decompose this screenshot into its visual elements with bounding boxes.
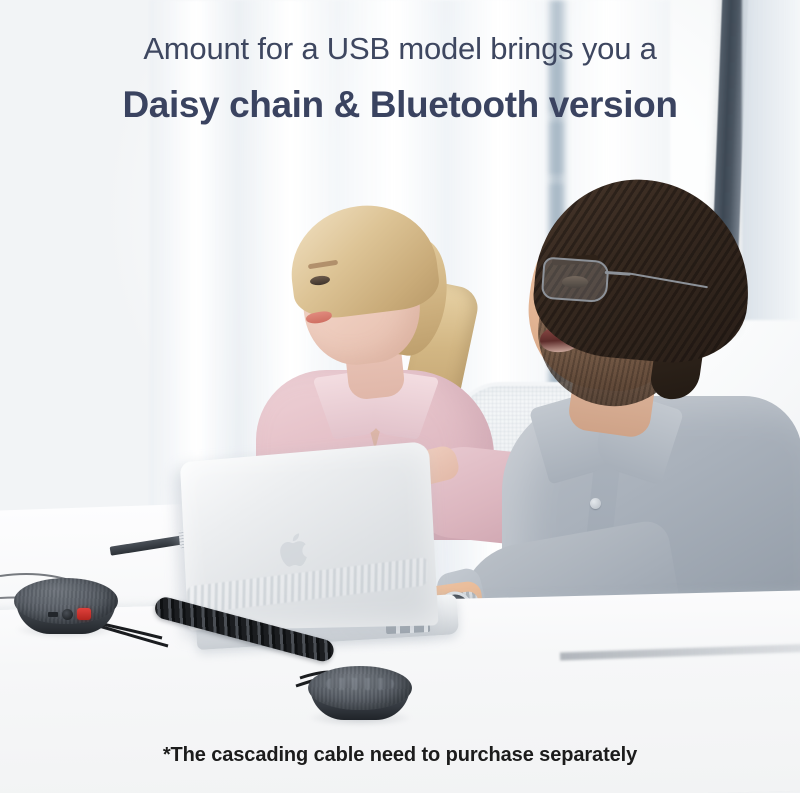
woman-hair-top [284,198,442,323]
eyeglasses-temple [629,272,708,288]
man-shirt-button [590,498,601,509]
headline-block: Amount for a USB model brings you a Dais… [0,30,800,128]
eyeglasses-lens-left [541,257,610,304]
headline-line-1: Amount for a USB model brings you a [0,30,800,68]
audio-jack-port-icon [62,609,73,620]
usb-port-icon [48,612,58,617]
puck-control-buttons [326,678,394,690]
speakerphone-puck-primary [14,578,118,640]
promo-banner: Amount for a USB model brings you a Dais… [0,0,800,793]
speakerphone-puck-secondary [308,666,412,728]
headline-line-2: Daisy chain & Bluetooth version [0,82,800,128]
footnote-disclaimer: *The cascading cable need to purchase se… [0,744,800,767]
cascading-port-icon [77,608,91,620]
